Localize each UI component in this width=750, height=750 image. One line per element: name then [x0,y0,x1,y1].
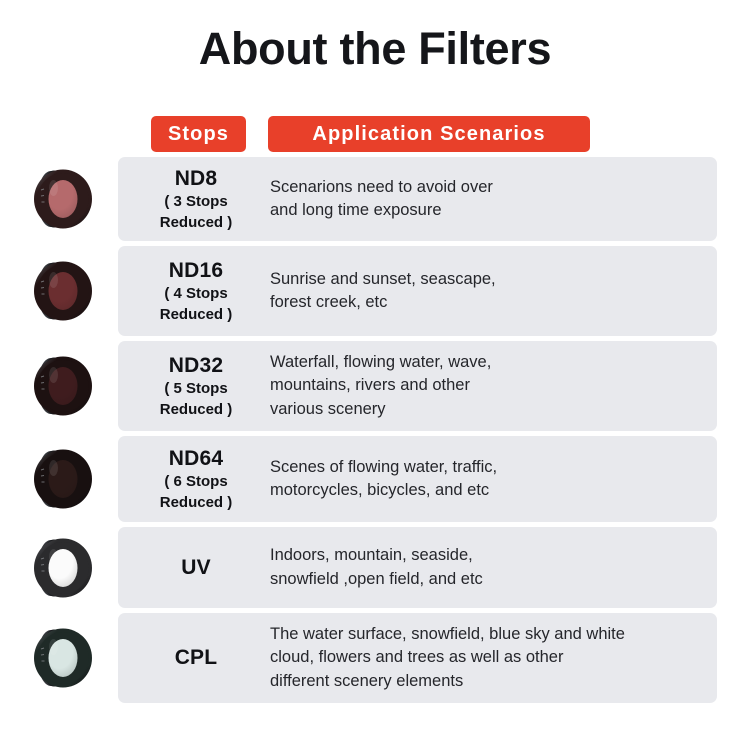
cell-application-scenarios: Scenes of flowing water, traffic,motorcy… [270,436,714,522]
page-title: About the Filters [0,24,750,74]
stop-sub-label: ( 4 Stops [164,284,227,304]
filters-table: ND8 ( 3 Stops Reduced ) Scenarions need … [0,157,750,708]
uv-filter-lens-icon [29,535,95,601]
scenario-line: Scenarions need to avoid over [270,176,714,199]
filter-name-label: UV [181,555,211,581]
scenario-line: The water surface, snowfield, blue sky a… [270,623,714,646]
scenario-line: snowfield ,open field, and etc [270,568,714,591]
column-header-stops-label: Stops [168,123,229,146]
stop-sub-label-2: Reduced ) [160,213,233,233]
stop-sub-label: ( 6 Stops [164,472,227,492]
table-row: CPL The water surface, snowfield, blue s… [0,613,750,703]
cell-application-scenarios: Waterfall, flowing water, wave,mountains… [270,341,714,431]
stop-sub-label: ( 3 Stops [164,192,227,212]
nd32-filter-lens-icon [29,353,95,419]
nd8-filter-lens-icon [29,166,95,232]
scenario-line: various scenery [270,398,714,421]
table-row: ND32 ( 5 Stops Reduced ) Waterfall, flow… [0,341,750,431]
cell-stops: ND32 ( 5 Stops Reduced ) [126,341,266,431]
column-header-application-scenarios-label: Application Scenarios [312,123,545,146]
scenario-line: Scenes of flowing water, traffic, [270,456,714,479]
scenario-line: motorcycles, bicycles, and etc [270,479,714,502]
filter-name-label: CPL [175,645,218,671]
cell-stops: UV [126,527,266,608]
cell-application-scenarios: Sunrise and sunset, seascape,forest cree… [270,246,714,336]
scenario-line: Indoors, mountain, seaside, [270,544,714,567]
cpl-filter-lens-icon [29,625,95,691]
cell-stops: ND16 ( 4 Stops Reduced ) [126,246,266,336]
stop-sub-label: ( 5 Stops [164,379,227,399]
stop-sub-label-2: Reduced ) [160,400,233,420]
stop-sub-label-2: Reduced ) [160,493,233,513]
filter-name-label: ND16 [169,258,224,284]
scenario-line: Sunrise and sunset, seascape, [270,268,714,291]
filter-name-label: ND32 [169,353,224,379]
nd64-filter-lens-icon [29,446,95,512]
nd16-filter-lens-icon [29,258,95,324]
scenario-line: Waterfall, flowing water, wave, [270,351,714,374]
table-row: ND8 ( 3 Stops Reduced ) Scenarions need … [0,157,750,241]
scenario-line: forest creek, etc [270,291,714,314]
scenario-line: different scenery elements [270,670,714,693]
scenario-line: mountains, rivers and other [270,374,714,397]
table-row: ND16 ( 4 Stops Reduced ) Sunrise and sun… [0,246,750,336]
cell-application-scenarios: Indoors, mountain, seaside,snowfield ,op… [270,527,714,608]
cell-stops: CPL [126,613,266,703]
cell-stops: ND64 ( 6 Stops Reduced ) [126,436,266,522]
filter-name-label: ND64 [169,446,224,472]
stop-sub-label-2: Reduced ) [160,305,233,325]
scenario-line: cloud, flowers and trees as well as othe… [270,646,714,669]
cell-application-scenarios: Scenarions need to avoid overand long ti… [270,157,714,241]
table-row: UV Indoors, mountain, seaside,snowfield … [0,527,750,608]
cell-application-scenarios: The water surface, snowfield, blue sky a… [270,613,714,703]
table-row: ND64 ( 6 Stops Reduced ) Scenes of flowi… [0,436,750,522]
cell-stops: ND8 ( 3 Stops Reduced ) [126,157,266,241]
scenario-line: and long time exposure [270,199,714,222]
column-header-application-scenarios: Application Scenarios [268,116,590,152]
column-header-stops: Stops [151,116,246,152]
filter-name-label: ND8 [175,166,218,192]
table-header-row: Stops Application Scenarios [0,116,750,152]
